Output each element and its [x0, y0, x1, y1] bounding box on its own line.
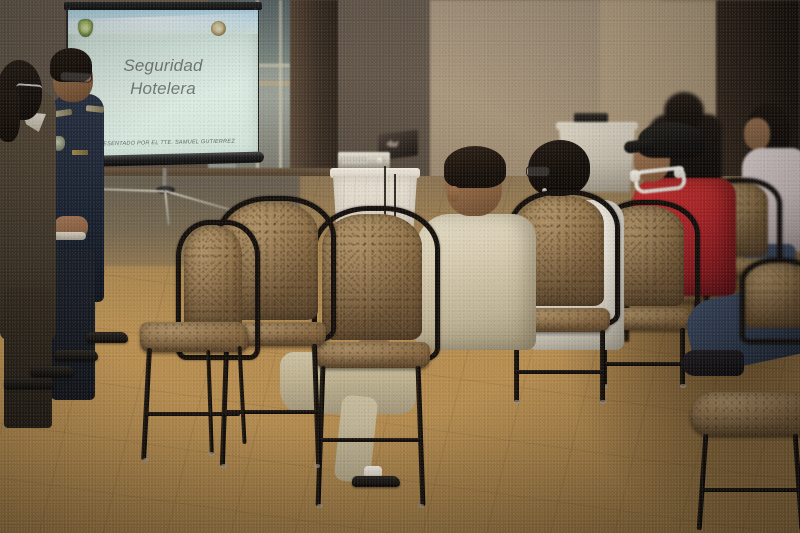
dark-column-center [290, 0, 338, 175]
headphone-earcup [674, 166, 684, 178]
stacking-banquet-chair[interactable] [140, 226, 254, 476]
chair-foot [600, 400, 606, 404]
chair-leg [697, 434, 709, 530]
chair-foot [418, 504, 424, 508]
window-mullion-vertical [279, 0, 282, 175]
khaki-man-hair [444, 146, 506, 188]
chair-foot [314, 464, 320, 468]
stacking-banquet-chair[interactable] [690, 392, 800, 533]
chair-leg [793, 434, 800, 530]
officer-rank-ribbon [72, 150, 88, 155]
presenter-woman-hair-side [0, 90, 20, 142]
chair-leg [141, 348, 152, 460]
presenter-woman [0, 38, 70, 398]
eyeglasses-icon [16, 83, 43, 94]
chair-leg [600, 330, 605, 402]
chair-rail [602, 362, 684, 366]
data-projector[interactable] [338, 152, 390, 169]
black-shoe [86, 332, 128, 343]
chair-foot [317, 504, 323, 508]
chair-foot [143, 458, 149, 462]
chair-rail [318, 438, 422, 442]
foreground-shoe [682, 350, 744, 376]
photo-scene: Seguridad Hotelera PRESENTADO POR EL TTE… [0, 0, 800, 533]
chair-leg [237, 346, 246, 444]
black-shoe [4, 378, 54, 389]
chair-foot [680, 384, 686, 388]
laptop-logo-icon [386, 139, 399, 149]
khaki-man-ear [448, 186, 460, 202]
chair-rail [700, 488, 800, 492]
chair-seat [690, 392, 800, 436]
chair-leg [312, 344, 321, 466]
chair-leg [206, 350, 214, 454]
black-shoe [30, 366, 74, 377]
chair-frame [740, 258, 800, 344]
projector-vents [341, 157, 367, 164]
chair-foot [514, 400, 520, 404]
chair-seat [316, 342, 430, 368]
chair-rail [144, 412, 240, 416]
chair-foot [208, 452, 214, 456]
stacking-banquet-chair[interactable] [740, 262, 800, 372]
presenter-woman-trousers [4, 288, 52, 428]
gold-seal-emblem-icon [211, 21, 226, 36]
projector-lens-icon [376, 156, 385, 165]
chair-seat [140, 322, 248, 352]
screen-top-bar [64, 2, 262, 10]
chair-leg [416, 366, 426, 506]
